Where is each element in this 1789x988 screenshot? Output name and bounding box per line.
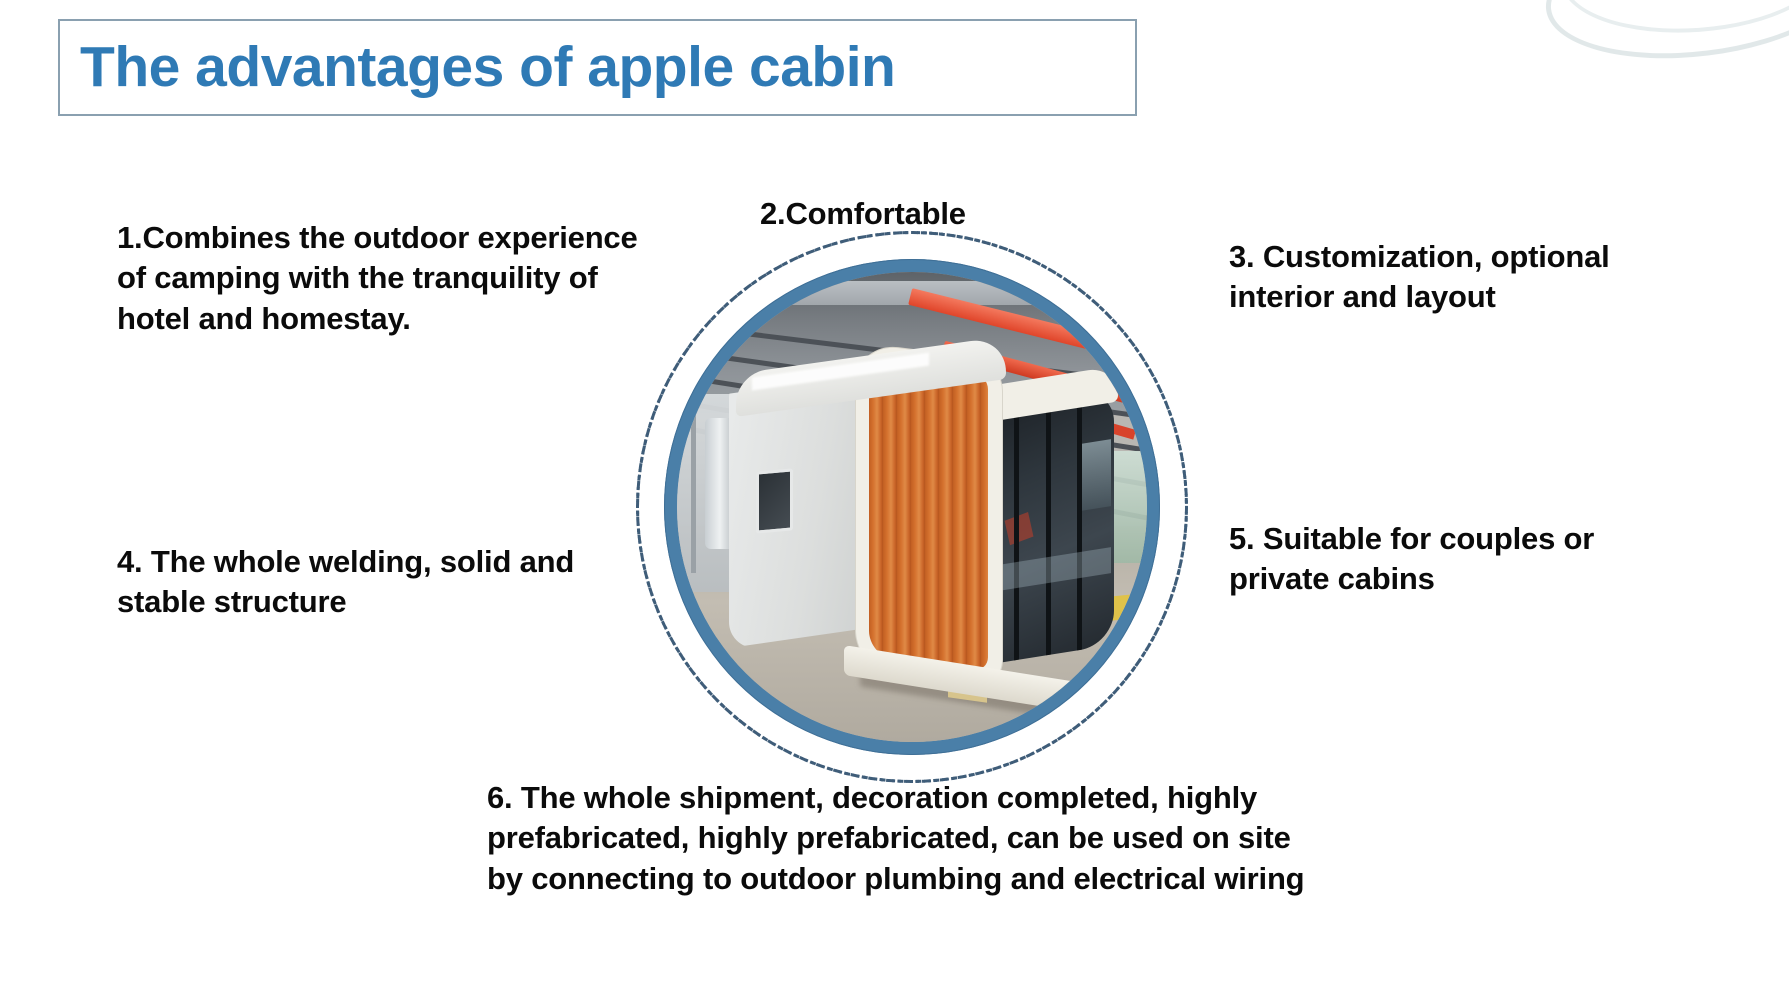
advantage-item-4: 4. The whole welding, solid and stable s… bbox=[117, 542, 637, 623]
glass-mullion bbox=[1046, 398, 1051, 655]
advantage-item-6: 6. The whole shipment, decoration comple… bbox=[487, 778, 1317, 899]
cabin-glass-wall bbox=[983, 388, 1114, 665]
glass-reflection-sky bbox=[1077, 439, 1111, 511]
page-title: The advantages of apple cabin bbox=[60, 39, 895, 96]
machinery-pipe bbox=[691, 404, 696, 573]
advantage-item-2-caption: 2.Comfortable bbox=[760, 196, 966, 232]
glass-mullion bbox=[1077, 393, 1082, 650]
cabin-wood-slat-panel bbox=[869, 361, 988, 672]
corner-swoosh-decoration-2 bbox=[1557, 0, 1789, 41]
apple-cabin-unit bbox=[729, 352, 1114, 681]
advantage-item-3: 3. Customization, optional interior and … bbox=[1229, 237, 1709, 318]
cabin-photo-assembly bbox=[636, 231, 1188, 783]
cabin-photo bbox=[677, 272, 1147, 742]
glass-mullion bbox=[1014, 403, 1019, 660]
corner-swoosh-decoration bbox=[1538, 0, 1789, 74]
cabin-side-window bbox=[756, 469, 793, 534]
title-box: The advantages of apple cabin bbox=[58, 19, 1137, 116]
advantage-item-1: 1.Combines the outdoor experience of cam… bbox=[117, 218, 662, 339]
advantage-item-5: 5. Suitable for couples or private cabin… bbox=[1229, 519, 1699, 600]
